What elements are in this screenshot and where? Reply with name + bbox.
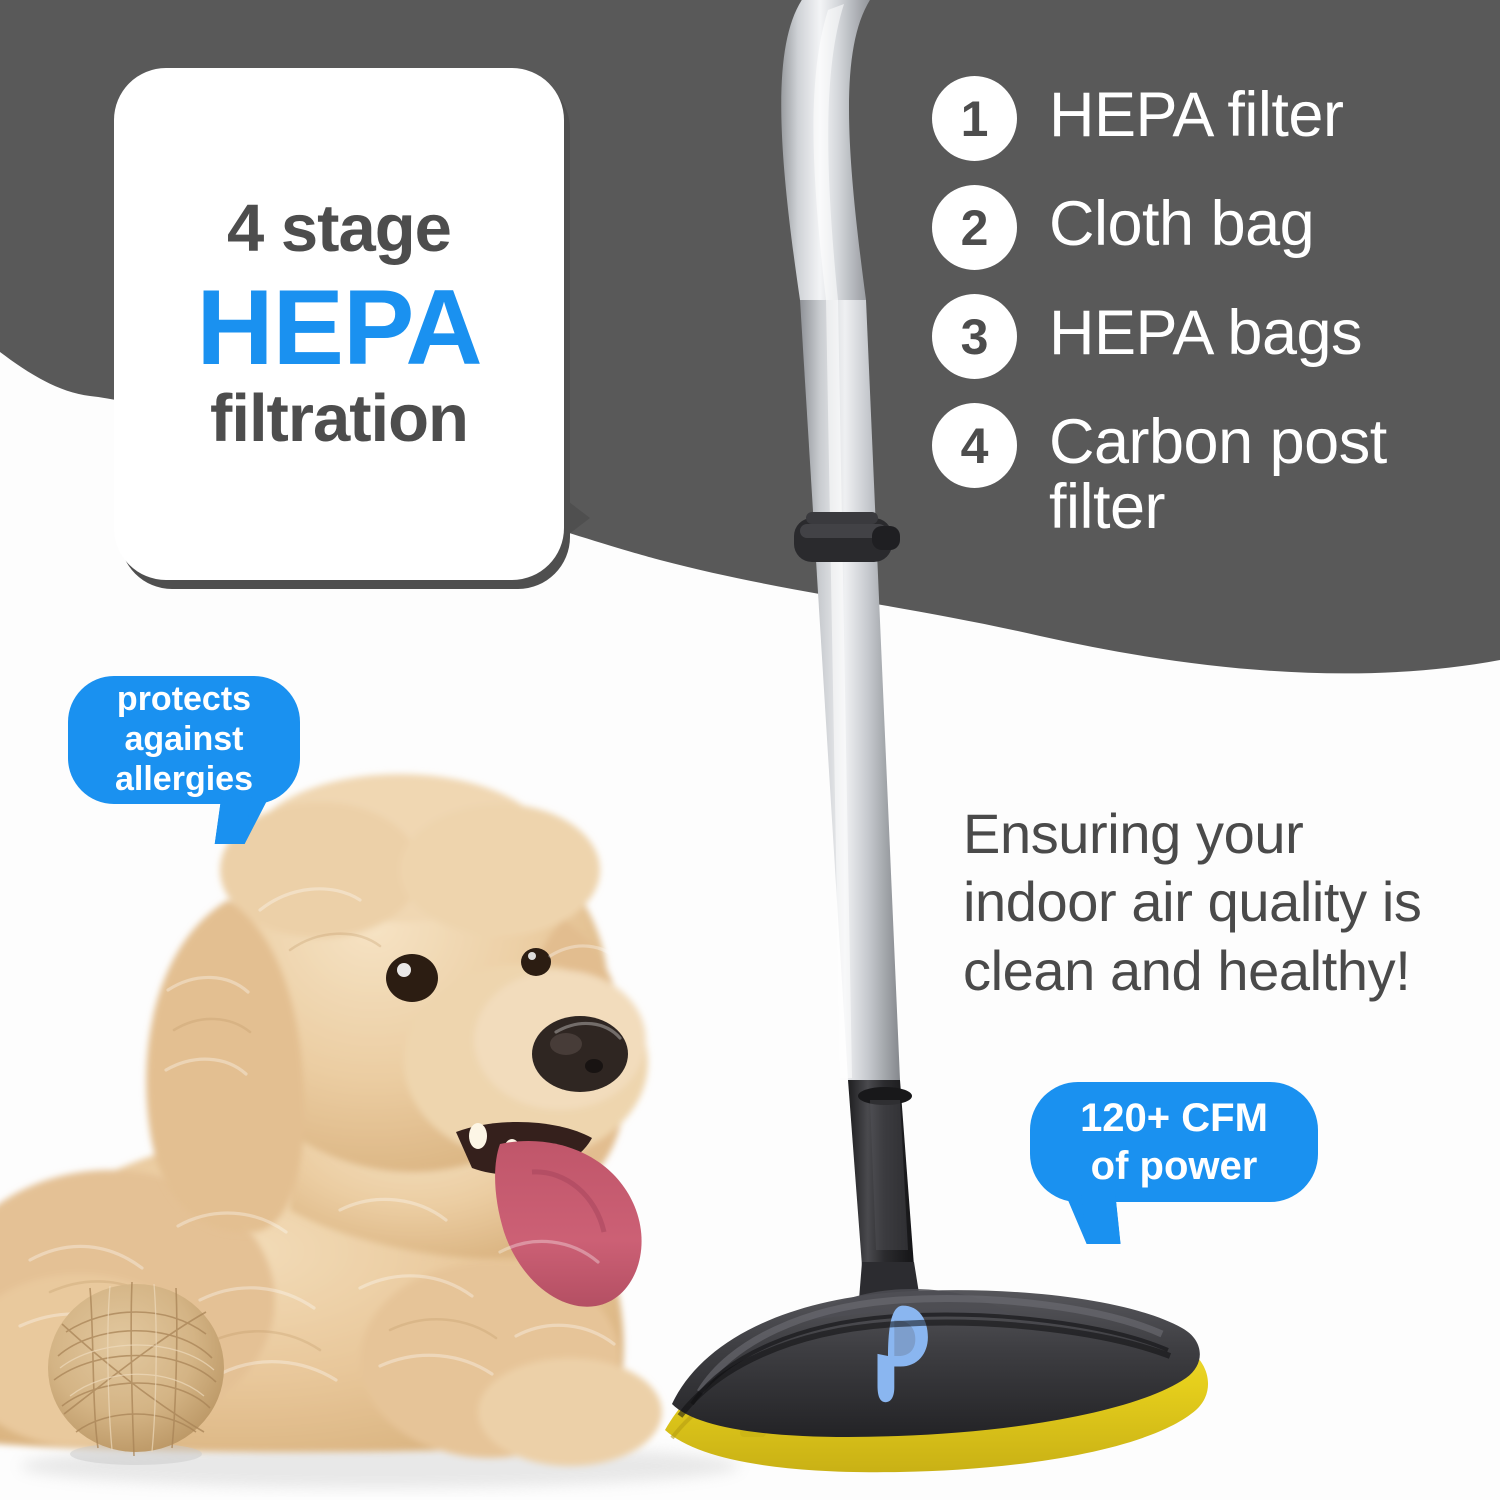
speech-bubble-power: 120+ CFM of power [1030, 1082, 1318, 1202]
bubble-allergies-line-2: against [115, 720, 253, 760]
feature-item-3: 3 HEPA bags [932, 294, 1477, 379]
feature-number-badge: 3 [932, 294, 1017, 379]
pet-hair-ball [36, 1272, 236, 1467]
feature-item-2: 2 Cloth bag [932, 185, 1477, 270]
bubble-allergies-line-3: allergies [115, 760, 253, 800]
product-marketing-image: 4 stage HEPA filtration 1 HEPA filter 2 … [0, 0, 1500, 1500]
feature-number-badge: 2 [932, 185, 1017, 270]
hepa-filtration-card: 4 stage HEPA filtration [114, 68, 564, 580]
bubble-allergies-line-1: protects [115, 680, 253, 720]
feature-label: Cloth bag [1049, 185, 1314, 257]
bubble-power-line-1: 120+ CFM [1080, 1094, 1268, 1142]
bubble-tail-icon [1065, 1194, 1120, 1244]
dog-eye-right [521, 948, 551, 976]
feature-number-badge: 4 [932, 403, 1017, 488]
feature-item-4: 4 Carbon post filter [932, 403, 1477, 540]
card-line-1: 4 stage [227, 195, 451, 263]
bubble-tail-icon [215, 796, 270, 844]
card-line-3-filtration: filtration [210, 385, 468, 453]
dog-eye-left [386, 954, 438, 1002]
card-line-2-hepa: HEPA [196, 274, 481, 381]
speech-bubble-allergies: protects against allergies [68, 676, 300, 804]
dog-nose [532, 1016, 628, 1092]
feature-label: HEPA bags [1049, 294, 1362, 366]
feature-label: HEPA filter [1049, 76, 1343, 148]
feature-list: 1 HEPA filter 2 Cloth bag 3 HEPA bags 4 … [932, 76, 1477, 564]
feature-number-badge: 1 [932, 76, 1017, 161]
feature-label: Carbon post filter [1049, 403, 1477, 540]
feature-item-1: 1 HEPA filter [932, 76, 1477, 161]
bubble-power-line-2: of power [1080, 1142, 1268, 1190]
tagline-text: Ensuring your indoor air quality is clea… [963, 800, 1463, 1005]
